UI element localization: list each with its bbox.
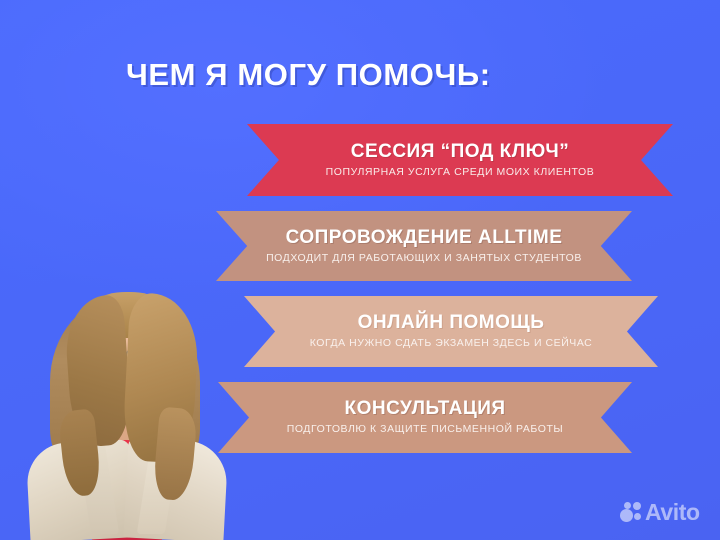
avito-wordmark: Avito bbox=[645, 501, 700, 524]
service-banner-alltime[interactable]: СОПРОВОЖДЕНИЕ ALLTIME ПОДХОДИТ ДЛЯ РАБОТ… bbox=[216, 211, 632, 281]
avito-watermark: Avito bbox=[620, 501, 700, 524]
service-title: КОНСУЛЬТАЦИЯ bbox=[344, 399, 505, 419]
presenter-photo bbox=[22, 290, 230, 540]
service-subtitle: КОГДА НУЖНО СДАТЬ ЭКЗАМЕН ЗДЕСЬ И СЕЙЧАС bbox=[310, 338, 593, 350]
service-subtitle: ПОДГОТОВЛЮ К ЗАЩИТЕ ПИСЬМЕННОЙ РАБОТЫ bbox=[287, 424, 564, 436]
service-title: ОНЛАЙН ПОМОЩЬ bbox=[358, 313, 545, 333]
page-title: ЧЕМ Я МОГУ ПОМОЧЬ: bbox=[126, 57, 491, 93]
promo-poster: ЧЕМ Я МОГУ ПОМОЧЬ: СЕССИЯ “ПОД КЛЮЧ” ПОП… bbox=[0, 0, 720, 540]
service-banner-session[interactable]: СЕССИЯ “ПОД КЛЮЧ” ПОПУЛЯРНАЯ УСЛУГА СРЕД… bbox=[247, 124, 673, 196]
service-subtitle: ПОПУЛЯРНАЯ УСЛУГА СРЕДИ МОИХ КЛИЕНТОВ bbox=[326, 167, 595, 179]
service-banner-consultation[interactable]: КОНСУЛЬТАЦИЯ ПОДГОТОВЛЮ К ЗАЩИТЕ ПИСЬМЕН… bbox=[218, 382, 632, 453]
service-title: СЕССИЯ “ПОД КЛЮЧ” bbox=[351, 142, 570, 162]
service-banner-online-help[interactable]: ОНЛАЙН ПОМОЩЬ КОГДА НУЖНО СДАТЬ ЭКЗАМЕН … bbox=[244, 296, 658, 367]
avito-dots-icon bbox=[620, 502, 641, 523]
service-subtitle: ПОДХОДИТ ДЛЯ РАБОТАЮЩИХ И ЗАНЯТЫХ СТУДЕН… bbox=[266, 253, 582, 265]
service-title: СОПРОВОЖДЕНИЕ ALLTIME bbox=[286, 228, 563, 248]
